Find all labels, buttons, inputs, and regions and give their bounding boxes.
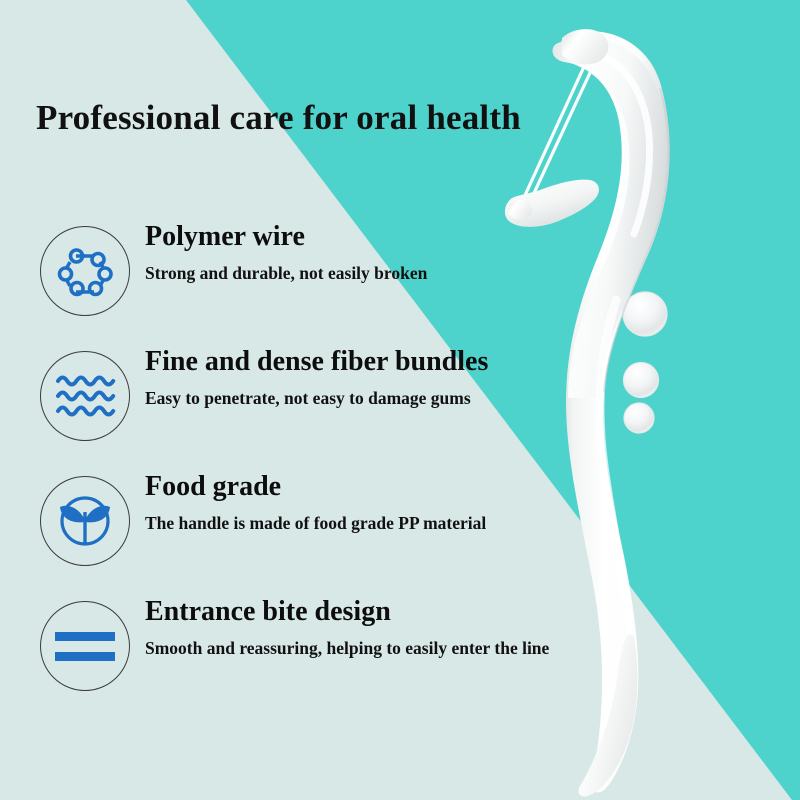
feature-title: Polymer wire [145, 222, 427, 253]
feature-icon-badge [40, 351, 130, 441]
feature-subtitle: Smooth and reassuring, helping to easily… [145, 638, 549, 658]
feature-item-polymer-wire: Polymer wire Strong and durable, not eas… [40, 222, 600, 326]
poster-canvas: Professional care for oral health [0, 0, 800, 800]
feature-subtitle: The handle is made of food grade PP mate… [145, 513, 486, 533]
double-bar-icon [53, 624, 117, 668]
feature-text-block: Food grade The handle is made of food gr… [145, 472, 486, 533]
feature-item-food-grade: Food grade The handle is made of food gr… [40, 472, 600, 576]
feature-subtitle: Easy to penetrate, not easy to damage gu… [145, 388, 488, 408]
feature-icon-badge [40, 476, 130, 566]
feature-icon-badge [40, 601, 130, 691]
feature-item-fiber-bundles: Fine and dense fiber bundles Easy to pen… [40, 347, 600, 451]
feature-icon-badge [40, 226, 130, 316]
feature-subtitle: Strong and durable, not easily broken [145, 263, 427, 283]
feature-text-block: Entrance bite design Smooth and reassuri… [145, 597, 549, 658]
feature-item-entrance-bite: Entrance bite design Smooth and reassuri… [40, 597, 600, 701]
feature-title: Fine and dense fiber bundles [145, 347, 488, 378]
feature-text-block: Polymer wire Strong and durable, not eas… [145, 222, 427, 283]
polymer-molecule-icon [55, 241, 115, 301]
wavy-fibers-icon [54, 368, 116, 424]
page-title: Professional care for oral health [36, 98, 521, 138]
feature-title: Entrance bite design [145, 597, 549, 628]
leaf-sprout-icon [54, 490, 116, 552]
feature-title: Food grade [145, 472, 486, 503]
feature-text-block: Fine and dense fiber bundles Easy to pen… [145, 347, 488, 408]
